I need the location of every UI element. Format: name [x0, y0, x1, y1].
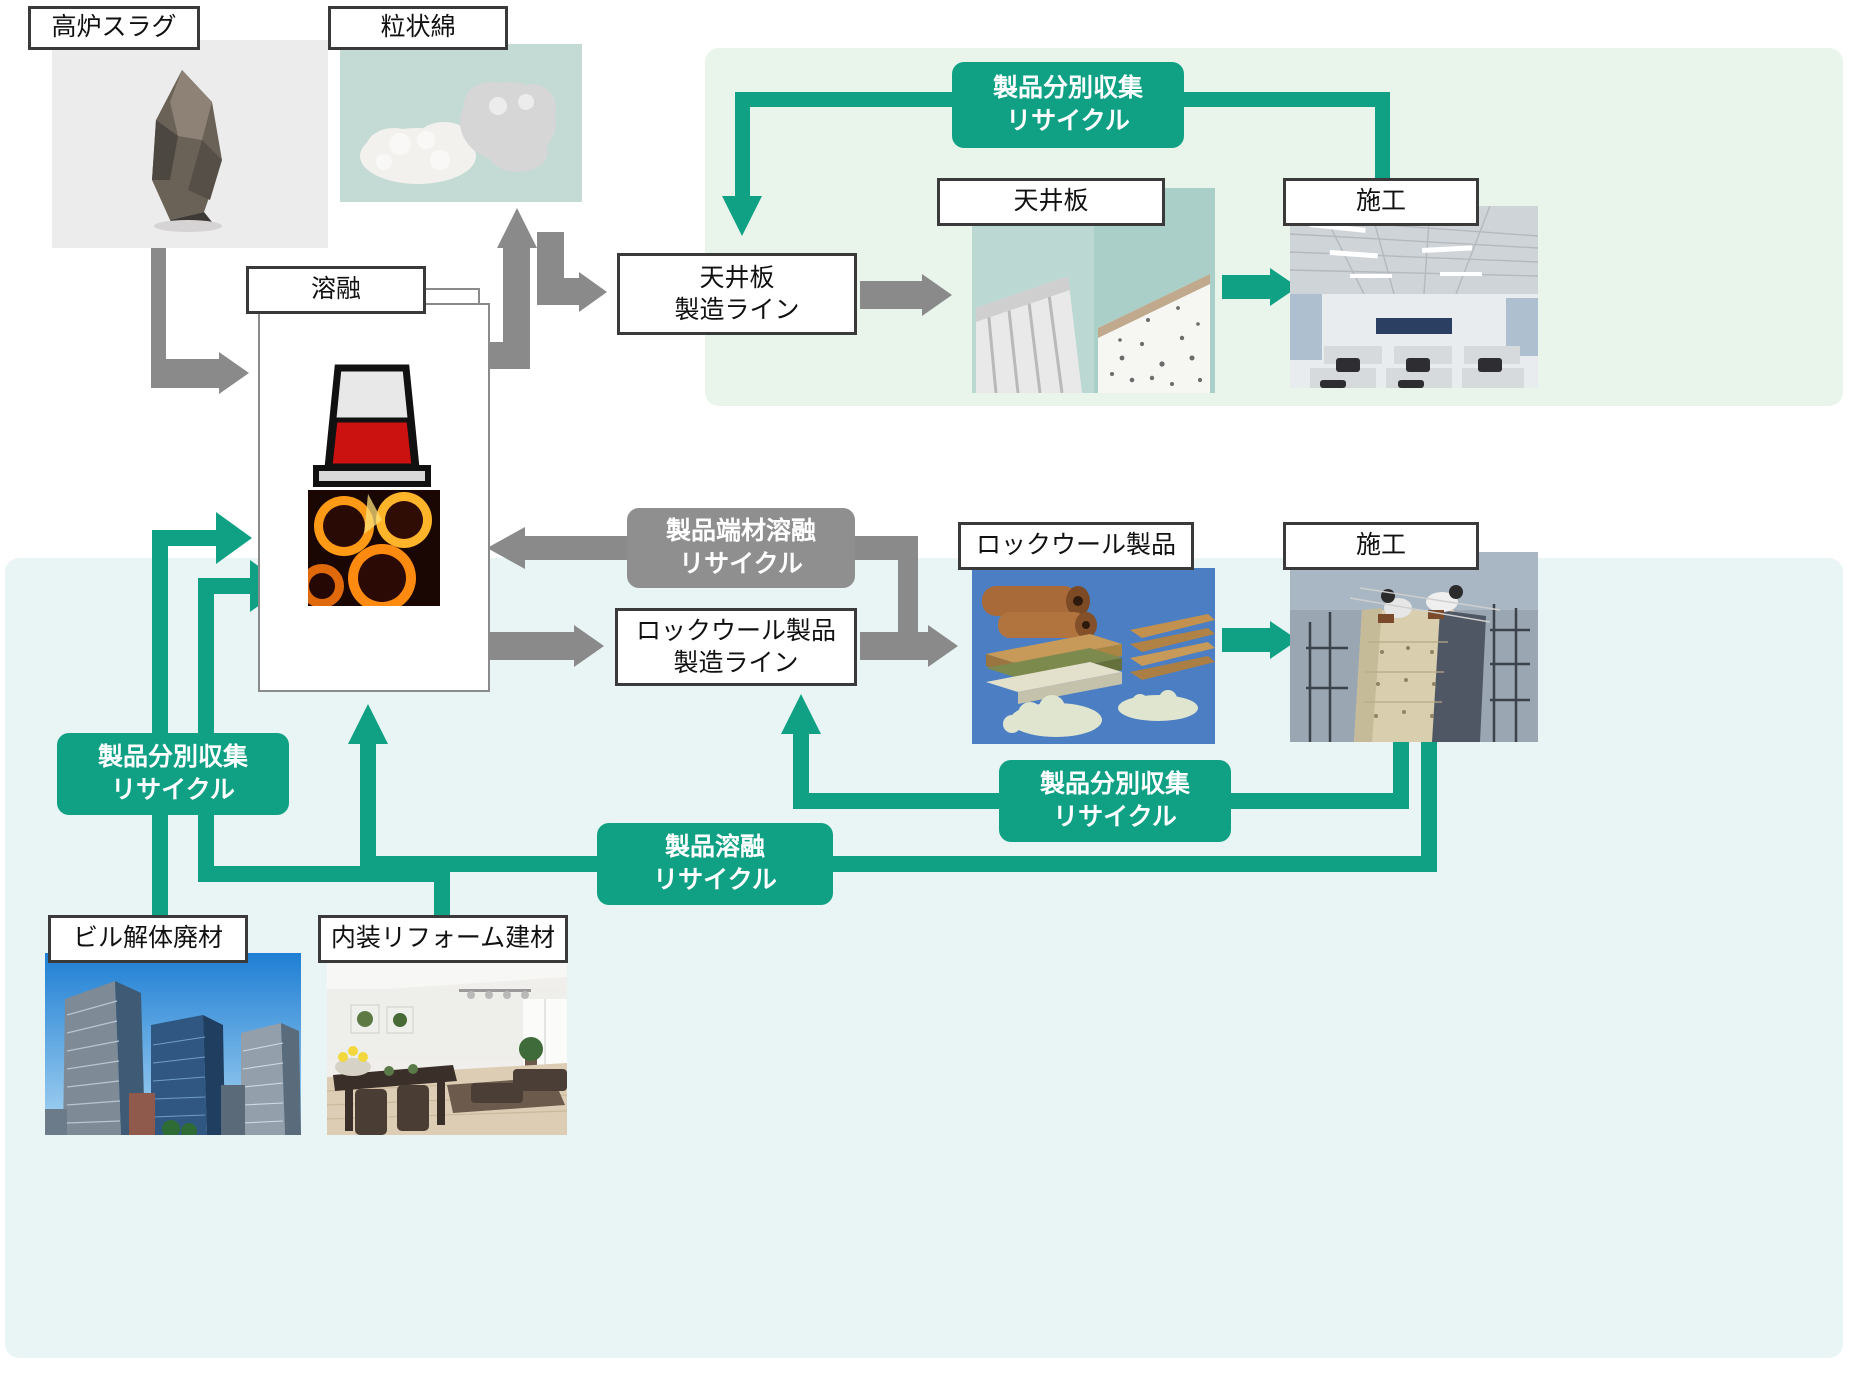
- recycling-flow-diagram: 高炉スラグ 粒状綿 溶融: [0, 0, 1858, 1388]
- wool-to-ceiling-arrowhead: [579, 272, 607, 312]
- interior-riser: [198, 578, 214, 880]
- granulated-wool-photo: [340, 44, 582, 202]
- demolition-label-box: ビル解体廃材: [48, 915, 248, 963]
- offcut-melt-arrowhead: [487, 527, 525, 569]
- rockwool-prod-to-product-arrowhead: [928, 625, 958, 667]
- ceiling-prod-to-product-arrowhead: [922, 274, 952, 316]
- office-ceiling-photo: [1290, 206, 1538, 388]
- ceiling-production-line-box: 天井板 製造ライン: [617, 253, 857, 335]
- granulated-wool-label: 粒状綿: [380, 13, 455, 43]
- offcut-melt-pill-label: 製品端材溶融 リサイクル: [666, 515, 816, 581]
- ceiling-recycle-left-vertical: [735, 92, 750, 198]
- ceiling-recycle-right-vertical: [1375, 92, 1390, 184]
- slag-label-box: 高炉スラグ: [28, 6, 200, 50]
- rock-wool-product-label-box: ロックウール製品: [958, 522, 1194, 570]
- collect-to-prod-vertical: [793, 730, 809, 804]
- melting-furnace-icon: [310, 358, 434, 506]
- furnace-to-rockwool-shaft: [484, 632, 574, 660]
- skyscrapers-photo: [45, 953, 301, 1135]
- interior-room-photo: [327, 953, 567, 1135]
- rockwool-production-line-box: ロックウール製品 製造ライン: [615, 608, 857, 686]
- rockwool-collect-pill-label: 製品分別収集 リサイクル: [1040, 768, 1190, 834]
- melting-label-box: 溶融: [246, 266, 426, 314]
- ceiling-install-label: 施工: [1356, 187, 1406, 217]
- rockwool-product-to-install-shaft: [1222, 628, 1270, 652]
- demolition-label: ビル解体廃材: [73, 924, 223, 954]
- granulated-wool-label-box: 粒状綿: [328, 6, 508, 50]
- slag-label: 高炉スラグ: [51, 13, 176, 43]
- ceiling-prod-to-product-shaft: [860, 281, 922, 309]
- ceiling-recycle-pill-label: 製品分別収集 リサイクル: [993, 72, 1143, 138]
- rock-wool-product-label: ロックウール製品: [976, 531, 1176, 561]
- ceiling-production-line-label: 天井板 製造ライン: [674, 262, 799, 327]
- demolition-elbow-horizontal: [152, 530, 216, 546]
- demolition-riser: [152, 530, 168, 920]
- interior-drop-to-box: [434, 866, 450, 920]
- ceiling-recycle-left-horizontal: [735, 92, 955, 107]
- offcut-melt-pill: 製品端材溶融 リサイクル: [627, 508, 855, 588]
- melting-label: 溶融: [311, 275, 361, 305]
- install-to-collect-horizontal: [1228, 793, 1409, 809]
- interior-reform-label-box: 内装リフォーム建材: [318, 915, 568, 963]
- product-melt-pill-label: 製品溶融 リサイクル: [653, 831, 777, 897]
- tank-insulation-photo: [1290, 552, 1538, 742]
- slag-to-furnace-horizontal: [151, 359, 219, 388]
- slag-to-furnace-vertical: [151, 226, 166, 374]
- install-to-melt-vertical: [1421, 742, 1437, 856]
- slag-to-furnace-arrowhead: [219, 352, 249, 394]
- ceiling-recycle-right-horizontal: [1182, 92, 1390, 107]
- furnace-to-wool-vertical: [503, 244, 530, 364]
- interior-elbow-horizontal: [198, 578, 250, 594]
- interior-reform-label: 内装リフォーム建材: [331, 924, 555, 954]
- melt-pill-left-vertical: [360, 740, 376, 866]
- rockwool-collect-pill: 製品分別収集 リサイクル: [999, 760, 1231, 842]
- collect-to-prod-horizontal: [793, 793, 1001, 809]
- blast-furnace-slag-photo: [52, 40, 328, 248]
- rockwool-prod-to-product-shaft: [860, 632, 928, 660]
- ceiling-board-label-box: 天井板: [937, 178, 1165, 226]
- melt-pill-up-arrowhead: [348, 704, 388, 744]
- collect-to-prod-arrowhead: [781, 694, 821, 734]
- source-collect-pill: 製品分別収集 リサイクル: [57, 733, 289, 815]
- ceiling-product-to-install-shaft: [1222, 275, 1270, 299]
- wool-to-ceiling-horizontal: [537, 278, 579, 305]
- rock-wool-products-photo: [972, 568, 1215, 744]
- product-melt-pill: 製品溶融 リサイクル: [597, 823, 833, 905]
- rockwool-install-label: 施工: [1356, 531, 1406, 561]
- install-to-melt-horizontal: [830, 856, 1437, 872]
- ceiling-board-label: 天井板: [1013, 187, 1088, 217]
- source-collect-pill-label: 製品分別収集 リサイクル: [98, 741, 248, 807]
- rockwool-production-line-label: ロックウール製品 製造ライン: [636, 615, 836, 680]
- melting-frame-top-line: [424, 288, 480, 290]
- furnace-to-wool-arrowhead: [497, 208, 537, 248]
- rockwool-install-label-box: 施工: [1283, 522, 1479, 570]
- ceiling-recycle-pill: 製品分別収集 リサイクル: [952, 62, 1184, 148]
- furnace-to-rockwool-arrowhead: [574, 625, 604, 667]
- molten-flame-photo: [308, 490, 440, 606]
- offcut-melt-shaft-left: [524, 536, 632, 560]
- ceiling-recycle-down-arrowhead: [722, 196, 762, 236]
- offcut-melt-riser: [898, 536, 918, 644]
- interior-bottom-horizontal: [198, 866, 450, 882]
- ceiling-install-label-box: 施工: [1283, 178, 1479, 226]
- demolition-arrowhead: [216, 512, 252, 564]
